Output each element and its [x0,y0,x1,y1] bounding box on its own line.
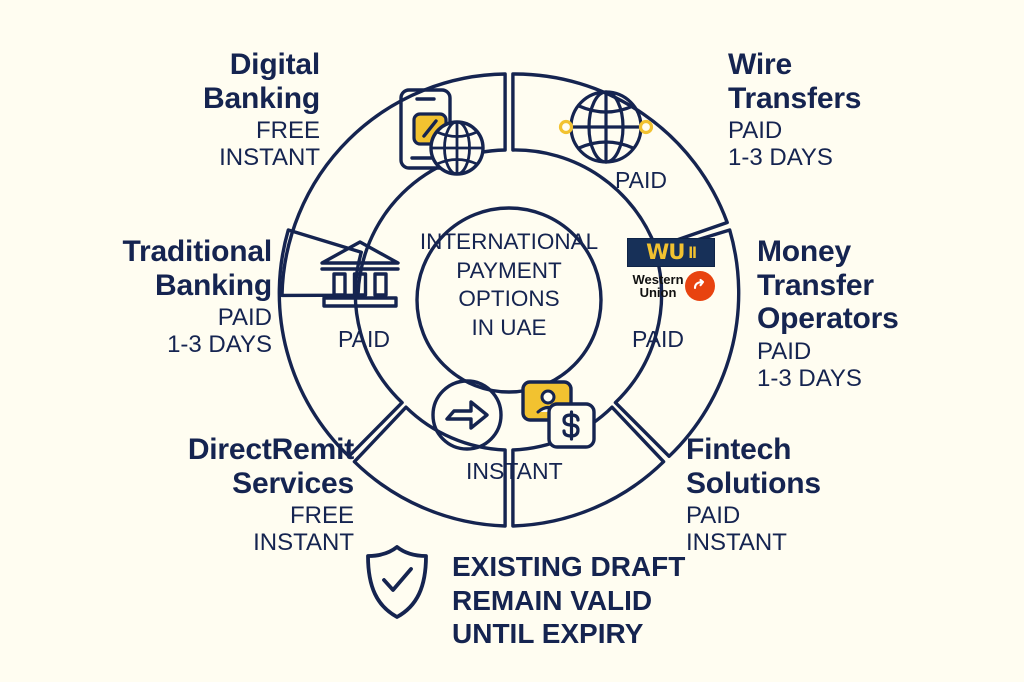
label-traditional-banking-title: Traditional Banking [58,235,272,302]
ring-status-traditional-banking: PAID [338,326,390,353]
label-money-transfer-operators-title: Money Transfer Operators [757,235,982,336]
globe-icon [556,84,656,170]
money-cards-icon [519,378,599,450]
wu-mark-main: WU [646,242,684,263]
label-money-transfer-operators: Money Transfer Operators PAID 1-3 DAYS [757,235,982,393]
footnote-text: EXISTING DRAFT REMAIN VALID UNTIL EXPIRY [452,550,685,651]
label-fintech-solutions-meta: PAID INSTANT [686,503,896,557]
label-wire-transfers: Wire Transfers PAID 1-3 DAYS [728,48,928,172]
label-money-transfer-operators-meta: PAID 1-3 DAYS [757,339,982,393]
ring-status-wire-transfers: PAID [615,167,667,194]
wu-mark-bar: WU II [627,238,715,267]
label-digital-banking: Digital Banking FREE INSTANT [150,48,320,172]
label-traditional-banking: Traditional Banking PAID 1-3 DAYS [58,235,272,359]
label-digital-banking-meta: FREE INSTANT [150,118,320,172]
western-union-logo: WU II Western Union [627,238,715,301]
center-label: INTERNATIONAL PAYMENT OPTIONS IN UAE [399,228,619,342]
label-directremit-services: DirectRemit Services FREE INSTANT [130,433,354,557]
label-wire-transfers-title: Wire Transfers [728,48,928,115]
wu-mark-bars: II [688,244,695,261]
bank-building-icon [317,238,403,308]
shield-check-icon [363,543,431,621]
label-traditional-banking-meta: PAID 1-3 DAYS [58,305,272,359]
label-digital-banking-title: Digital Banking [150,48,320,115]
label-fintech-solutions: Fintech Solutions PAID INSTANT [686,433,896,557]
label-fintech-solutions-title: Fintech Solutions [686,433,896,500]
ring-status-money-transfer-operators: PAID [632,326,684,353]
label-directremit-services-meta: FREE INSTANT [130,503,354,557]
wu-arrow-badge-icon [685,271,715,301]
phone-globe-icon [392,86,490,180]
label-wire-transfers-meta: PAID 1-3 DAYS [728,118,928,172]
arrow-circle-icon [430,378,504,452]
wu-wordmark: Western Union [627,273,689,300]
ring-status-fintech-solutions: INSTANT [466,458,563,485]
label-directremit-services-title: DirectRemit Services [130,433,354,500]
